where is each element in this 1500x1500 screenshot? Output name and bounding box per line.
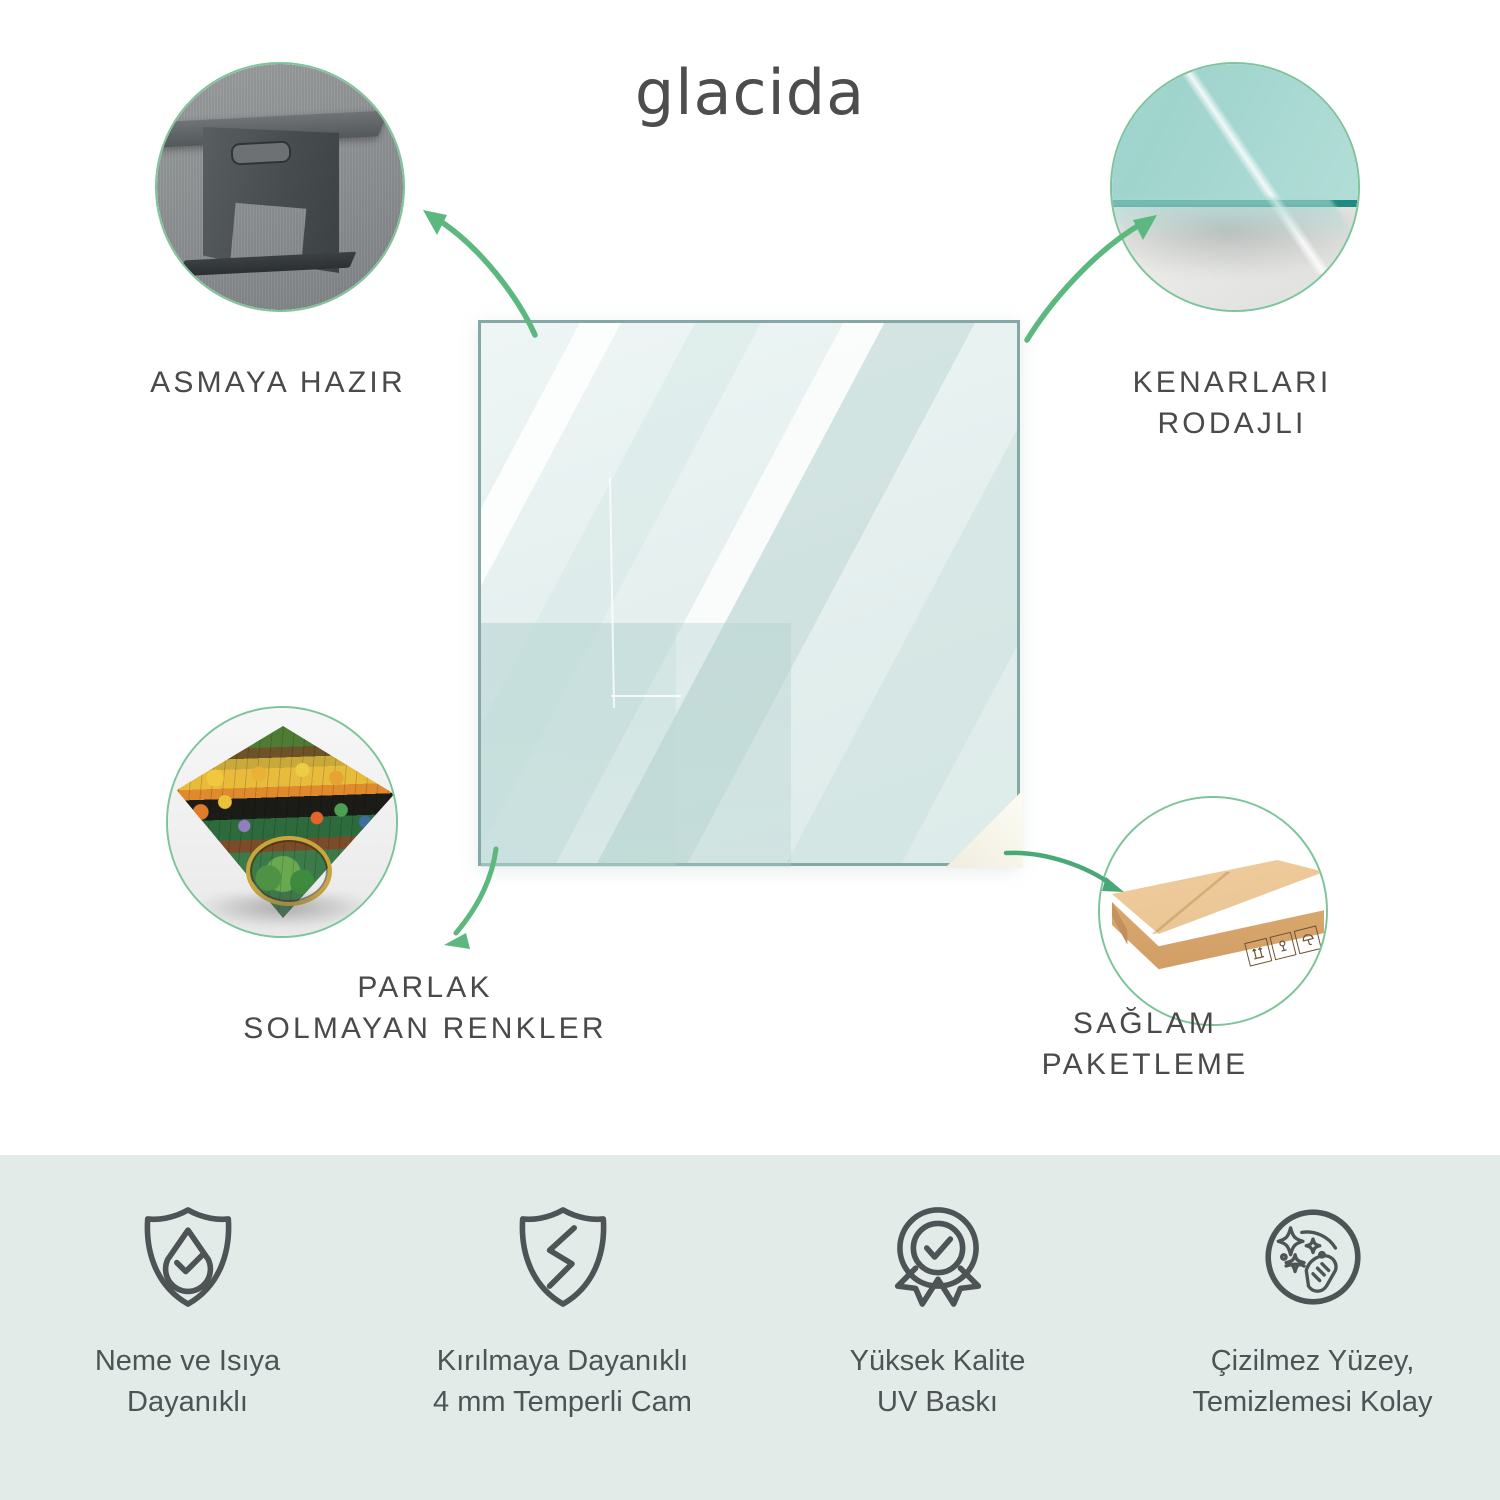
print-drop-shadow — [194, 894, 374, 928]
label-line: PARLAK — [145, 967, 705, 1008]
caption-line: Temizlemesi Kolay — [1192, 1382, 1432, 1423]
glass-reflection-seam-horizontal — [611, 695, 681, 697]
feature-label-colors: PARLAK SOLMAYAN RENKLER — [145, 967, 705, 1050]
quality-badge-check-icon — [882, 1201, 994, 1313]
feature-image-hanging — [155, 62, 405, 312]
arrow-to-packaging — [1002, 845, 1132, 900]
caption-line: Neme ve Isıya — [95, 1341, 280, 1382]
caption-line: Dayanıklı — [95, 1382, 280, 1423]
caption-line: Çizilmez Yüzey, — [1192, 1341, 1432, 1382]
arrow-to-hanging — [415, 195, 575, 340]
feature-item-break-resistant: Kırılmaya Dayanıklı 4 mm Temperli Cam — [375, 1155, 750, 1500]
shield-water-drop-check-icon — [132, 1201, 244, 1313]
feature-image-packaging — [1098, 796, 1328, 1026]
stained-glass-print-photo — [168, 708, 396, 936]
caption-line: UV Baskı — [850, 1382, 1026, 1423]
caption-line: Yüksek Kalite — [850, 1341, 1026, 1382]
hand-wipe-sparkle-icon — [1257, 1201, 1369, 1313]
feature-caption: Çizilmez Yüzey, Temizlemesi Kolay — [1192, 1341, 1432, 1423]
feature-label-hanging: ASMAYA HAZIR — [58, 362, 498, 403]
label-line: KENARLARI — [1042, 362, 1422, 403]
shield-crack-resistant-icon — [507, 1201, 619, 1313]
feature-label-edges: KENARLARI RODAJLI — [1042, 362, 1422, 445]
feature-bar: Neme ve Isıya Dayanıklı Kırılmaya Dayanı… — [0, 1155, 1500, 1500]
label-line: RODAJLI — [1042, 403, 1422, 444]
feature-image-colors — [166, 706, 398, 938]
label-line: SOLMAYAN RENKLER — [145, 1008, 705, 1049]
feature-caption: Neme ve Isıya Dayanıklı — [95, 1341, 280, 1423]
feature-caption: Kırılmaya Dayanıklı 4 mm Temperli Cam — [433, 1341, 692, 1423]
feature-item-moisture-heat: Neme ve Isıya Dayanıklı — [0, 1155, 375, 1500]
hanging-bracket-photo — [157, 64, 403, 310]
label-line: SAĞLAM — [920, 1003, 1370, 1044]
arrow-to-edges — [1015, 200, 1165, 345]
glass-tint-band-secondary — [481, 623, 676, 867]
feature-item-easy-clean: Çizilmez Yüzey, Temizlemesi Kolay — [1125, 1155, 1500, 1500]
caption-line: Kırılmaya Dayanıklı — [433, 1341, 692, 1382]
feature-caption: Yüksek Kalite UV Baskı — [850, 1341, 1026, 1423]
label-line: PAKETLEME — [920, 1044, 1370, 1085]
bracket-keyhole-slot — [230, 140, 291, 165]
label-line: ASMAYA HAZIR — [58, 362, 498, 403]
feature-label-packaging: SAĞLAM PAKETLEME — [920, 1003, 1370, 1086]
caption-line: 4 mm Temperli Cam — [433, 1382, 692, 1423]
product-glass-panel — [478, 320, 1020, 866]
feature-item-high-quality: Yüksek Kalite UV Baskı — [750, 1155, 1125, 1500]
arrow-to-colors — [430, 845, 565, 955]
cardboard-box-photo — [1100, 798, 1326, 1024]
